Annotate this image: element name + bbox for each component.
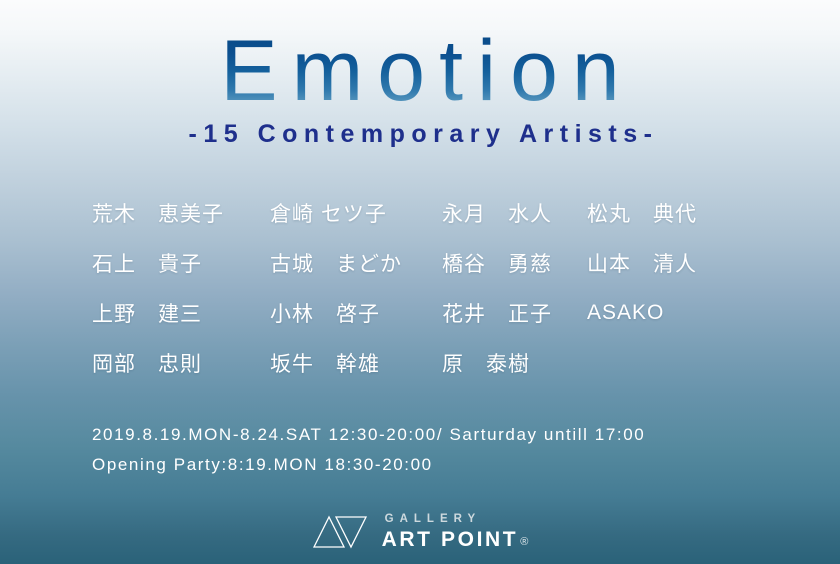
artist-name: 橋谷 勇慈: [442, 248, 587, 278]
logo-name-row: ART POINT ®: [382, 529, 529, 550]
artist-name: 上野 建三: [92, 298, 270, 328]
artist-name: 山本 清人: [587, 248, 752, 278]
artist-row: 荒木 恵美子 倉崎 セツ子 永月 水人 松丸 典代: [92, 188, 752, 238]
artist-name: ASAKO: [587, 301, 752, 325]
exhibition-poster: Emotion -15 Contemporary Artists- 荒木 恵美子…: [0, 0, 840, 564]
artist-name: 松丸 典代: [587, 198, 752, 228]
artist-name: 荒木 恵美子: [92, 198, 270, 228]
artist-name: 古城 まどか: [270, 248, 442, 278]
artist-name: 原 泰樹: [442, 348, 587, 378]
artist-name: 花井 正子: [442, 298, 587, 328]
artist-name: 坂牛 幹雄: [270, 348, 442, 378]
artist-name: 石上 貴子: [92, 248, 270, 278]
gallery-logo: GALLERY ART POINT ®: [0, 514, 840, 551]
schedule-opening-party: Opening Party:8:19.MON 18:30-20:00: [92, 450, 792, 480]
page-title: Emotion: [206, 28, 634, 114]
artist-row: 岡部 忠則 坂牛 幹雄 原 泰樹: [92, 338, 752, 388]
logo-text: GALLERY ART POINT ®: [382, 514, 529, 551]
artist-row: 石上 貴子 古城 まどか 橋谷 勇慈 山本 清人: [92, 238, 752, 288]
artist-name: 小林 啓子: [270, 298, 442, 328]
title-block: Emotion -15 Contemporary Artists-: [0, 28, 840, 149]
artist-name: 永月 水人: [442, 198, 587, 228]
registered-mark-icon: ®: [520, 537, 528, 548]
logo-artpoint-label: ART POINT: [382, 529, 519, 550]
artist-row: 上野 建三 小林 啓子 花井 正子 ASAKO: [92, 288, 752, 338]
page-subtitle: -15 Contemporary Artists-: [0, 120, 840, 149]
logo-gallery-label: GALLERY: [382, 514, 529, 526]
schedule-dates: 2019.8.19.MON-8.24.SAT 12:30-20:00/ Sart…: [92, 420, 792, 450]
artist-list: 荒木 恵美子 倉崎 セツ子 永月 水人 松丸 典代 石上 貴子 古城 まどか 橋…: [92, 188, 752, 388]
artist-name: 岡部 忠則: [92, 348, 270, 378]
av-triangles-icon: [312, 515, 368, 549]
schedule-block: 2019.8.19.MON-8.24.SAT 12:30-20:00/ Sart…: [92, 420, 792, 480]
artist-name: 倉崎 セツ子: [270, 198, 442, 228]
